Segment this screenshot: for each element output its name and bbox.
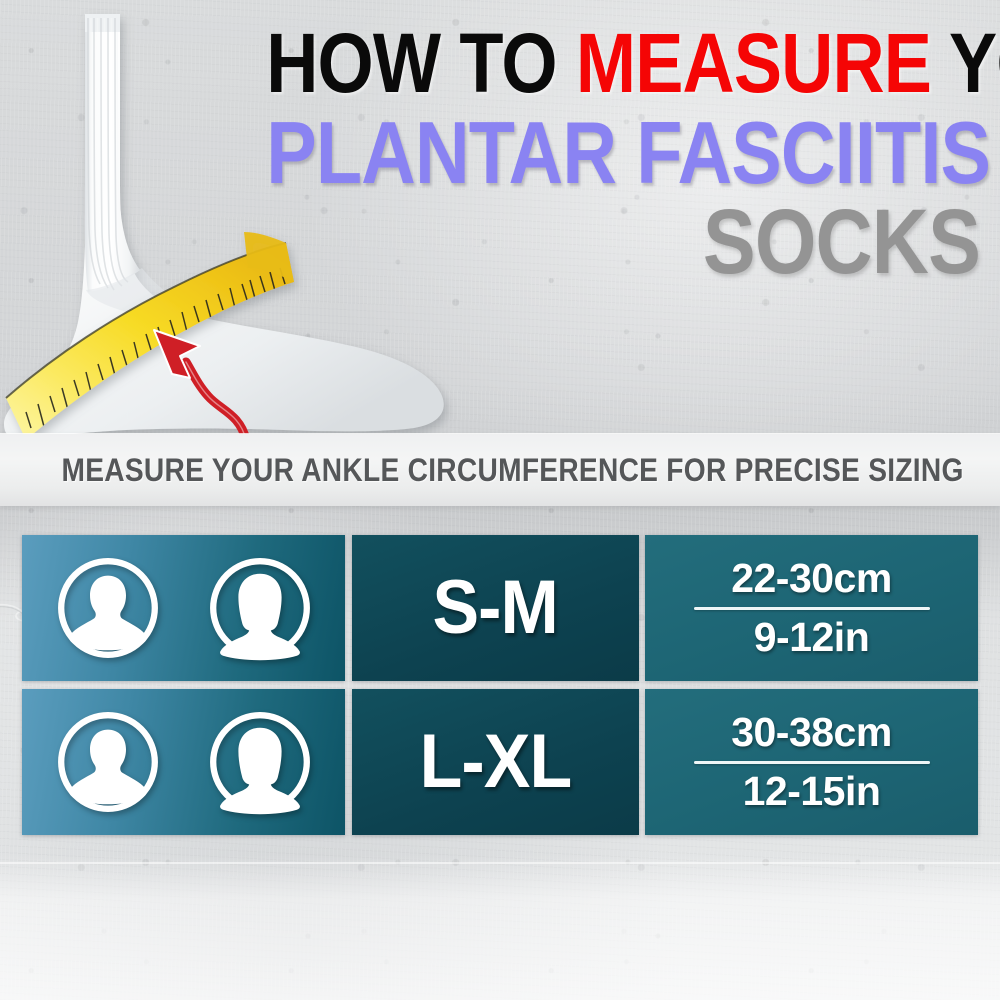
male-avatar-icon [54,554,162,662]
headline-line-1-highlight: MEASURE [576,16,931,110]
row-2-measurement-cell: 30-38cm 12-15in [645,689,978,835]
headline-line-1: HOW TO MEASURE YOUR [266,24,980,102]
size-guide-poster: HOW TO MEASURE YOUR PLANTAR FASCIITIS SO… [0,0,1000,1000]
subtitle-text: MEASURE YOUR ANKLE CIRCUMFERENCE FOR PRE… [0,452,1000,494]
row-2-size-label: L-XL [420,724,572,800]
row-1-imperial-value: 9-12in [754,616,870,659]
row-2-size-cell: L-XL [352,689,639,835]
row-1-avatars-cell [22,535,345,681]
lower-band-edge [0,862,1000,864]
row-2-metric-value: 30-38cm [731,711,892,754]
headline-line-3: SOCKS [266,200,980,286]
headline-line-1-part-1: HOW TO [266,16,576,110]
female-avatar-icon [206,708,314,816]
headline-line-2: PLANTAR FASCIITIS [266,112,980,194]
row-1-size-label: S-M [433,570,558,646]
row-2-divider [694,761,930,764]
female-avatar-icon [206,554,314,662]
headline-line-1-part-2: YOUR [931,16,1000,110]
row-2-imperial-value: 12-15in [743,770,881,813]
row-1-measurement-cell: 22-30cm 9-12in [645,535,978,681]
headline-block: HOW TO MEASURE YOUR PLANTAR FASCIITIS SO… [150,24,980,285]
table-row: L-XL 30-38cm 12-15in [22,689,978,835]
row-1-metric-value: 22-30cm [731,557,892,600]
male-avatar-icon [54,708,162,816]
row-1-divider [694,607,930,610]
row-2-avatars-cell [22,689,345,835]
table-row: S-M 22-30cm 9-12in [22,535,978,681]
row-1-size-cell: S-M [352,535,639,681]
bottom-haze [0,855,1000,1000]
subtitle-label: MEASURE YOUR ANKLE CIRCUMFERENCE FOR PRE… [62,452,964,489]
size-chart-table: S-M 22-30cm 9-12in [22,535,978,835]
